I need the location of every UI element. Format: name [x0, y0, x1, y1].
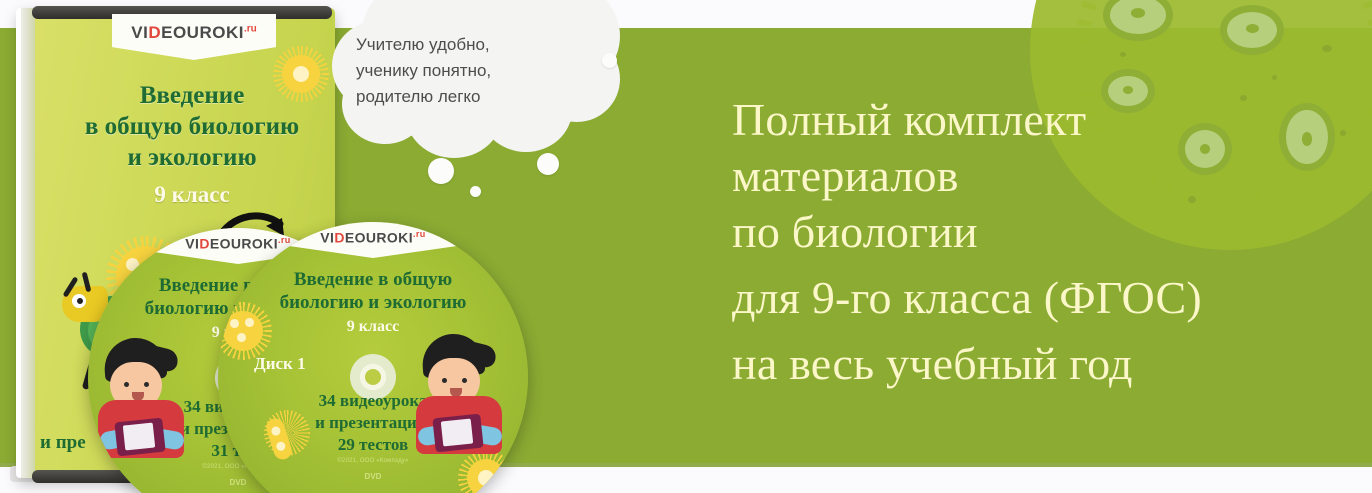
brand-pre: VI [320, 230, 334, 246]
headline: Полный комплект материалов по биологии д… [732, 92, 1352, 392]
disc-hole-inner [365, 369, 381, 385]
headline-spacer [732, 260, 1352, 270]
thought-bubble-text: Учителю удобно, ученику понятно, родител… [356, 32, 586, 110]
thought-line-1: Учителю удобно, [356, 32, 586, 58]
box-grade: 9 класс [42, 182, 335, 208]
brand-post: EOUROKI [345, 230, 413, 246]
disc-title-line-1: Введение в общую [218, 268, 528, 291]
thought-line-2: ученику понятно, [356, 58, 586, 84]
brand-tld: .ru [244, 23, 257, 34]
promo-banner: Полный комплект материалов по биологии д… [0, 0, 1372, 493]
headline-line-1: Полный комплект [732, 92, 1352, 148]
box-left-edge [16, 8, 21, 478]
disc-brand-logo: VIDEOUROKI.ru [289, 229, 457, 246]
yellow-microbe-icon [282, 55, 320, 93]
thought-line-3: родителю легко [356, 84, 586, 110]
brand-post: EOUROKI [210, 236, 278, 252]
boy-illustration [416, 334, 502, 454]
thought-bubble-dot [537, 153, 559, 175]
headline-spacer [732, 326, 1352, 336]
yellow-microbe-icon [467, 459, 505, 493]
brand-letter-d: D [148, 23, 161, 42]
brand-pre: VI [131, 23, 148, 42]
microbe-speck-icon [1322, 45, 1332, 52]
yellow-microbe-icon [223, 311, 263, 351]
brand-letter-d: D [199, 236, 210, 252]
brand-post: EOUROKI [161, 23, 244, 42]
boy-illustration [98, 338, 184, 458]
thought-bubble-dot [470, 186, 481, 197]
box-brand-logo: VIDEOUROKI.ru [112, 23, 276, 43]
headline-line-5: на весь учебный год [732, 336, 1352, 392]
microbe-vacuole-icon [1227, 12, 1277, 48]
brand-pre: VI [185, 236, 199, 252]
headline-line-3: по биологии [732, 204, 1352, 260]
box-title-line-2: в общую биологию [42, 111, 335, 142]
thought-bubble-dot [602, 53, 617, 68]
brand-tld: .ru [413, 229, 426, 239]
microbe-speck-icon [1120, 52, 1126, 57]
headline-line-4: для 9-го класса (ФГОС) [732, 270, 1352, 326]
box-title-line-3: и экологию [42, 142, 335, 173]
headline-line-2: материалов [732, 148, 1352, 204]
disc-title: Введение в общую биологию и экологию [218, 268, 528, 314]
thought-bubble-dot [428, 158, 454, 184]
brand-letter-d: D [334, 230, 345, 246]
microbe-speck-icon [1272, 75, 1277, 80]
